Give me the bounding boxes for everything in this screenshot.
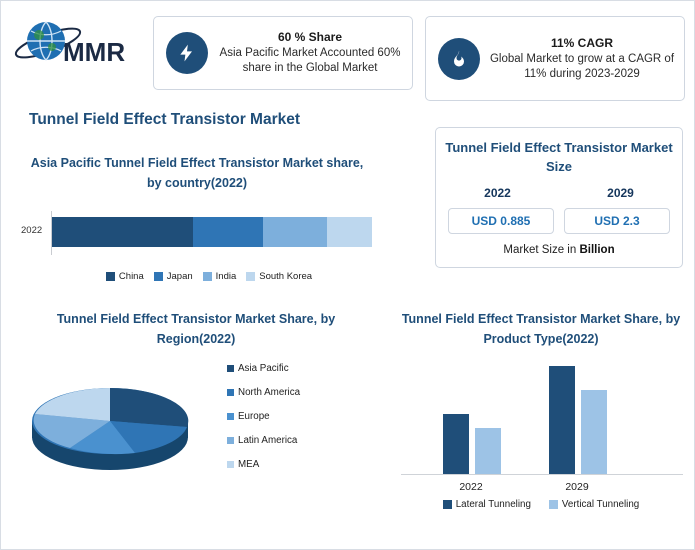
pie-svg: [15, 359, 215, 494]
market-size-year-2022: 2022: [436, 186, 559, 200]
market-size-values: USD 0.885 USD 2.3: [436, 208, 682, 234]
stat-card-share-headline: 60 % Share: [278, 30, 342, 44]
market-size-year-2029: 2029: [559, 186, 682, 200]
stat-card-cagr-text: 11% CAGR Global Market to grow at a CAGR…: [480, 36, 684, 82]
legend-item-asia-pacific: Asia Pacific: [227, 363, 300, 374]
legend-swatch-mea: [227, 461, 234, 468]
region-pie-plot: Asia Pacific North America Europe Latin …: [15, 359, 395, 499]
product-type-plot: 2022 2029: [391, 367, 691, 497]
country-share-plot: 2022: [19, 205, 399, 267]
legend-label-south-korea: South Korea: [259, 271, 312, 282]
bar-vertical-2022: [475, 428, 501, 474]
bar-lateral-2022: [443, 414, 469, 474]
stat-card-share-body: Asia Pacific Market Accounted 60% share …: [220, 47, 401, 74]
stat-card-share-text: 60 % Share Asia Pacific Market Accounted…: [208, 30, 412, 76]
country-segment-south-korea: [327, 217, 372, 247]
product-type-chart: Tunnel Field Effect Transistor Market Sh…: [391, 309, 691, 510]
legend-item-vertical-tunneling: Vertical Tunneling: [549, 499, 639, 510]
country-segment-japan: [193, 217, 263, 247]
infographic-page: MMR 60 % Share Asia Pacific Market Accou…: [0, 0, 695, 550]
market-size-card: Tunnel Field Effect Transistor Market Si…: [435, 127, 683, 268]
product-type-xlabel-2029: 2029: [545, 481, 609, 493]
market-size-footer: Market Size in Billion: [436, 244, 682, 256]
legend-item-china: China: [106, 271, 144, 282]
legend-label-china: China: [119, 271, 144, 282]
flame-icon: [438, 38, 480, 80]
svg-text:MMR: MMR: [63, 37, 125, 67]
legend-label-japan: Japan: [167, 271, 193, 282]
legend-item-north-america: North America: [227, 387, 300, 398]
legend-swatch-europe: [227, 413, 234, 420]
product-type-legend: Lateral Tunneling Vertical Tunneling: [391, 499, 691, 510]
legend-label-europe: Europe: [238, 411, 270, 422]
product-type-xlabel-2022: 2022: [439, 481, 503, 493]
legend-label-asia-pacific: Asia Pacific: [238, 363, 289, 374]
market-size-title: Tunnel Field Effect Transistor Market Si…: [436, 128, 682, 176]
legend-label-north-america: North America: [238, 387, 300, 398]
legend-item-japan: Japan: [154, 271, 193, 282]
region-share-title: Tunnel Field Effect Transistor Market Sh…: [31, 309, 361, 349]
legend-swatch-south-korea: [246, 272, 255, 281]
bar-vertical-2029: [581, 390, 607, 474]
legend-item-latin-america: Latin America: [227, 435, 300, 446]
legend-label-vertical-tunneling: Vertical Tunneling: [562, 499, 639, 510]
market-size-years: 2022 2029: [436, 186, 682, 200]
legend-swatch-north-america: [227, 389, 234, 396]
legend-item-europe: Europe: [227, 411, 300, 422]
legend-label-india: India: [216, 271, 237, 282]
stat-card-cagr: 11% CAGR Global Market to grow at a CAGR…: [425, 16, 685, 101]
market-size-footer-prefix: Market Size in: [503, 244, 579, 256]
legend-label-lateral-tunneling: Lateral Tunneling: [456, 499, 531, 510]
region-legend: Asia Pacific North America Europe Latin …: [227, 363, 300, 483]
country-stacked-bar: [52, 217, 372, 247]
legend-swatch-india: [203, 272, 212, 281]
region-share-chart: Tunnel Field Effect Transistor Market Sh…: [15, 309, 395, 499]
legend-swatch-asia-pacific: [227, 365, 234, 372]
market-size-footer-unit: Billion: [579, 244, 614, 256]
mmr-logo: MMR: [11, 15, 151, 77]
legend-label-latin-america: Latin America: [238, 435, 297, 446]
legend-label-mea: MEA: [238, 459, 259, 470]
legend-swatch-latin-america: [227, 437, 234, 444]
country-legend: China Japan India South Korea: [19, 271, 399, 282]
lightning-bolt-icon: [166, 32, 208, 74]
product-type-title: Tunnel Field Effect Transistor Market Sh…: [391, 309, 691, 349]
legend-item-south-korea: South Korea: [246, 271, 312, 282]
stat-card-cagr-headline: 11% CAGR: [551, 36, 613, 50]
country-share-chart: Asia Pacific Tunnel Field Effect Transis…: [19, 153, 399, 282]
pie-slice-asia-pacific: [110, 388, 188, 427]
stat-card-cagr-body: Global Market to grow at a CAGR of 11% d…: [490, 53, 674, 80]
country-share-title: Asia Pacific Tunnel Field Effect Transis…: [27, 153, 367, 193]
legend-item-lateral-tunneling: Lateral Tunneling: [443, 499, 531, 510]
stat-card-share: 60 % Share Asia Pacific Market Accounted…: [153, 16, 413, 90]
legend-swatch-china: [106, 272, 115, 281]
country-axis-label: 2022: [21, 225, 42, 236]
legend-item-mea: MEA: [227, 459, 300, 470]
legend-swatch-lateral-tunneling: [443, 500, 452, 509]
globe-icon: MMR: [11, 15, 151, 77]
market-size-value-2029: USD 2.3: [564, 208, 670, 234]
page-title: Tunnel Field Effect Transistor Market: [29, 111, 300, 129]
country-segment-india: [263, 217, 327, 247]
product-type-baseline: [401, 474, 683, 475]
legend-swatch-vertical-tunneling: [549, 500, 558, 509]
market-size-value-2022: USD 0.885: [448, 208, 554, 234]
legend-item-india: India: [203, 271, 237, 282]
legend-swatch-japan: [154, 272, 163, 281]
bar-lateral-2029: [549, 366, 575, 474]
country-segment-china: [52, 217, 193, 247]
